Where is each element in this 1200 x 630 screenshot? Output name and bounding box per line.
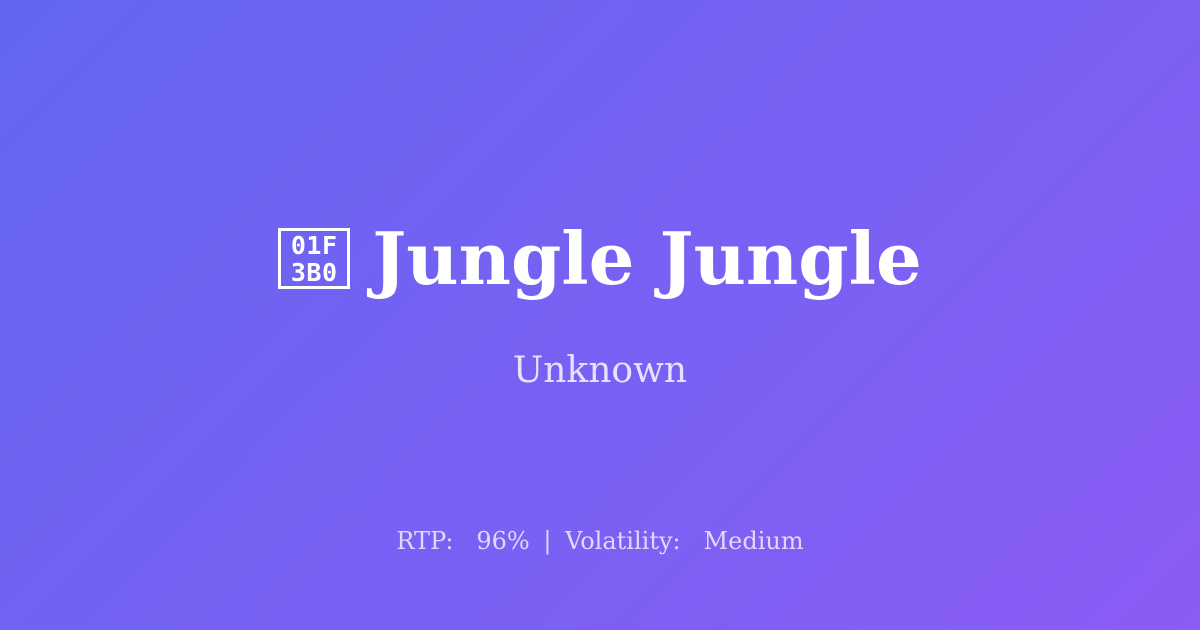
title-row: 01F 3B0 Jungle Jungle	[278, 222, 922, 295]
hero-block: 01F 3B0 Jungle Jungle Unknown	[0, 222, 1200, 389]
codepoint-bottom: 3B0	[291, 259, 338, 286]
page-title: Jungle Jungle	[372, 222, 922, 295]
game-meta-line: RTP: 96% | Volatility: Medium	[0, 528, 1200, 556]
rtp-value: 96%	[476, 527, 529, 555]
codepoint-top: 01F	[291, 232, 338, 259]
volatility-value: Medium	[704, 527, 804, 555]
slot-machine-icon: 01F 3B0	[278, 228, 350, 289]
game-og-card: 01F 3B0 Jungle Jungle Unknown RTP: 96% |…	[0, 0, 1200, 630]
meta-separator: |	[537, 527, 557, 555]
game-provider-subtitle: Unknown	[513, 353, 687, 389]
rtp-label: RTP:	[396, 527, 453, 555]
volatility-label: Volatility:	[565, 527, 681, 555]
